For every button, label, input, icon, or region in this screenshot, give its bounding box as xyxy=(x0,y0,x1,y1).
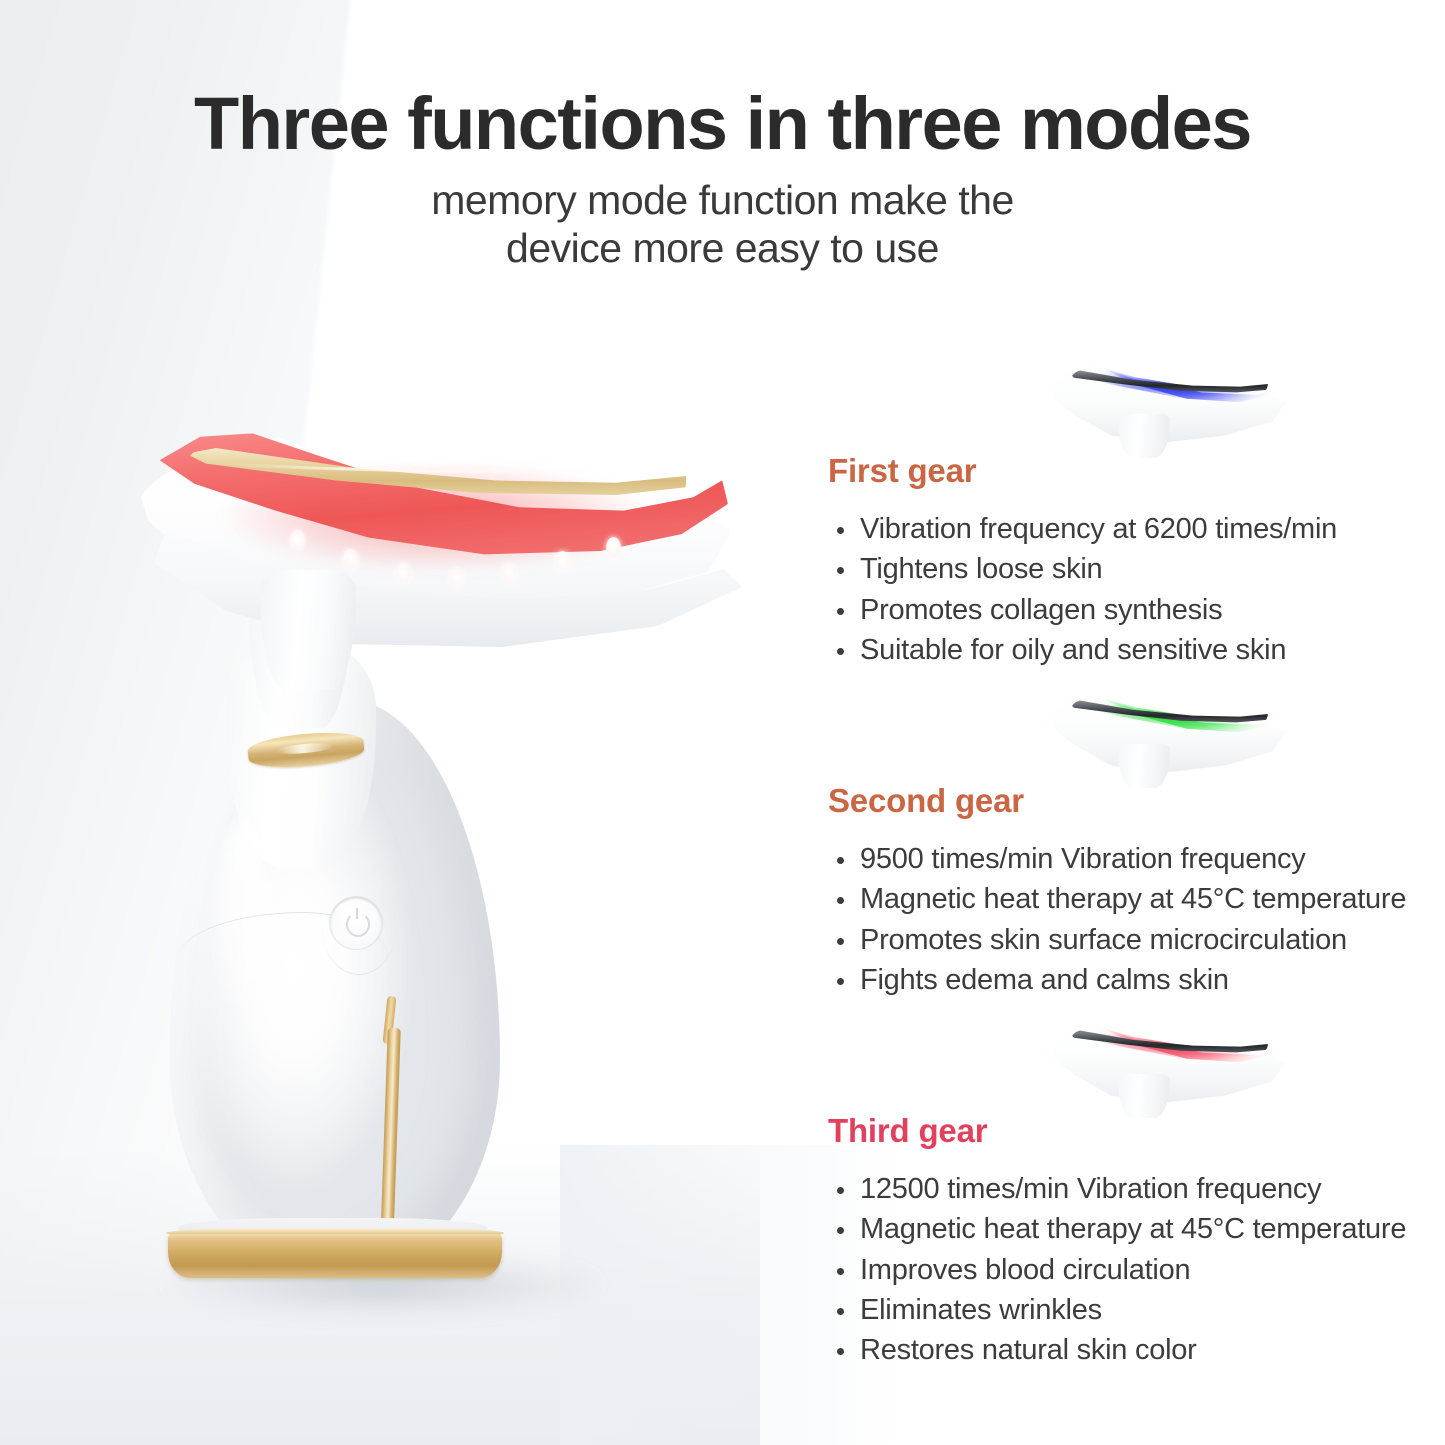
product-head xyxy=(108,400,748,700)
led-dot xyxy=(606,537,621,558)
mode-feature-item: Restores natural skin color xyxy=(828,1330,1406,1370)
mode-feature-item: 12500 times/min Vibration frequency xyxy=(828,1169,1406,1209)
mode-feature-item: Magnetic heat therapy at 45°C temperatur… xyxy=(828,879,1406,919)
led-dot xyxy=(502,563,517,584)
led-dot xyxy=(449,568,464,589)
mode-heading-third-gear: Third gear xyxy=(828,1112,987,1150)
mode-thumbnail-third-gear xyxy=(1040,1010,1296,1114)
led-dot xyxy=(290,530,305,551)
mode-feature-item: Suitable for oily and sensitive skin xyxy=(828,630,1337,670)
mode-feature-item: Fights edema and calms skin xyxy=(828,960,1406,1000)
led-dot xyxy=(555,551,570,572)
infographic-page: Three functions in three modes memory mo… xyxy=(0,0,1445,1445)
subtitle-line-1: memory mode function make the xyxy=(0,177,1445,225)
mode-feature-item: Magnetic heat therapy at 45°C temperatur… xyxy=(828,1209,1406,1249)
page-title: Three functions in three modes xyxy=(0,86,1445,161)
base-gold-trim xyxy=(168,1234,502,1278)
subtitle-line-2: device more easy to use xyxy=(0,225,1445,273)
thumbnail-stem xyxy=(1118,744,1170,788)
mode-thumbnail-second-gear xyxy=(1040,680,1296,784)
led-dot xyxy=(396,563,411,584)
page-subtitle: memory mode function make the device mor… xyxy=(0,177,1445,272)
mode-feature-item: Vibration frequency at 6200 times/min xyxy=(828,509,1337,549)
mode-feature-item: Improves blood circulation xyxy=(828,1250,1406,1290)
mode-heading-first-gear: First gear xyxy=(828,452,976,490)
thumbnail-stem xyxy=(1118,414,1170,458)
led-dot xyxy=(343,549,358,570)
header: Three functions in three modes memory mo… xyxy=(0,86,1445,273)
mode-feature-item: 9500 times/min Vibration frequency xyxy=(828,839,1406,879)
mode-feature-item: Eliminates wrinkles xyxy=(828,1290,1406,1330)
mode-thumbnail-first-gear xyxy=(1040,350,1296,454)
product-stem xyxy=(260,570,356,690)
mode-feature-list-third-gear: 12500 times/min Vibration frequencyMagne… xyxy=(828,1169,1406,1370)
product-image-main xyxy=(108,400,748,1350)
mode-feature-item: Tightens loose skin xyxy=(828,549,1337,589)
mode-feature-item: Promotes skin surface microcirculation xyxy=(828,920,1406,960)
mode-feature-list-second-gear: 9500 times/min Vibration frequencyMagnet… xyxy=(828,839,1406,1000)
mode-heading-second-gear: Second gear xyxy=(828,782,1024,820)
mode-feature-list-first-gear: Vibration frequency at 6200 times/minTig… xyxy=(828,509,1337,670)
thumbnail-stem xyxy=(1118,1074,1170,1118)
mode-feature-item: Promotes collagen synthesis xyxy=(828,590,1337,630)
